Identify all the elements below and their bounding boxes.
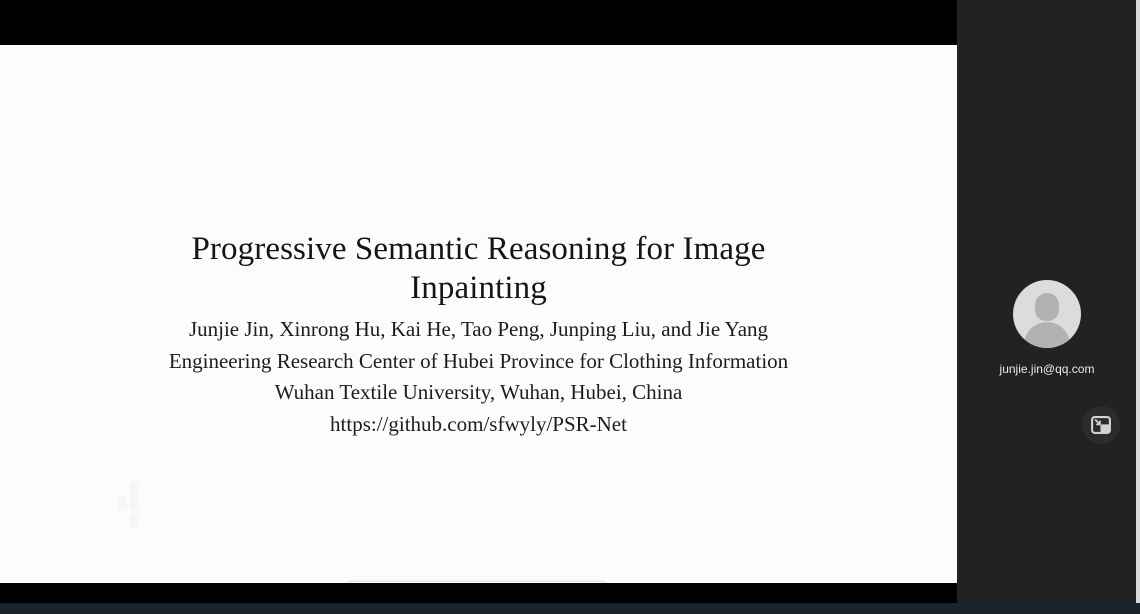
slide-affiliation-line-1: Engineering Research Center of Hubei Pro… (0, 346, 957, 378)
presentation-slide[interactable]: Progressive Semantic Reasoning for Image… (0, 45, 957, 583)
slide-text-block: Progressive Semantic Reasoning for Image… (0, 230, 957, 440)
picture-in-picture-button[interactable] (1082, 406, 1120, 444)
slide-affiliation-line-2: Wuhan Textile University, Wuhan, Hubei, … (0, 377, 957, 409)
slide-repository-url: https://github.com/sfwyly/PSR-Net (0, 409, 957, 441)
letterbox-top (0, 0, 957, 45)
os-taskbar (0, 603, 1140, 614)
slide-title: Progressive Semantic Reasoning for Image… (159, 230, 799, 308)
slide-watermark-icon (118, 480, 148, 528)
letterbox-bottom (0, 583, 957, 603)
shared-screen-stage[interactable]: Progressive Semantic Reasoning for Image… (0, 0, 957, 603)
participant-tile[interactable]: junjie.jin@qq.com (957, 280, 1137, 377)
default-person-avatar-icon (1013, 280, 1081, 348)
participant-email-label: junjie.jin@qq.com (957, 362, 1137, 377)
participants-side-panel: junjie.jin@qq.com (957, 0, 1137, 603)
panel-right-edge (1136, 0, 1140, 603)
meeting-window: Progressive Semantic Reasoning for Image… (0, 0, 1140, 614)
picture-in-picture-icon (1091, 416, 1111, 434)
slide-authors: Junjie Jin, Xinrong Hu, Kai He, Tao Peng… (0, 314, 957, 346)
